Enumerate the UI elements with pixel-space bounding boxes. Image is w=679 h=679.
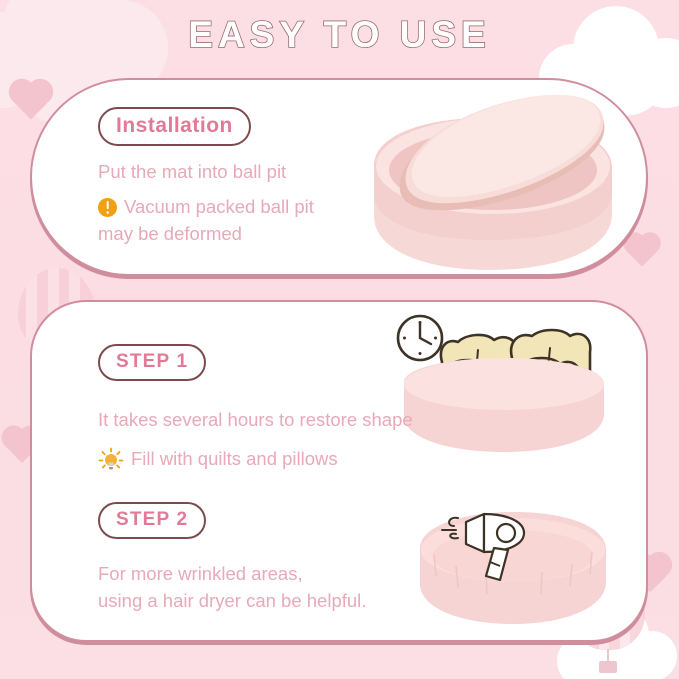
steps-card: STEP 1 It takes several hours to restore…: [30, 300, 648, 642]
installation-line-3: may be deformed: [98, 221, 314, 248]
step1-line-1: It takes several hours to restore shape: [98, 407, 413, 434]
step2-badge: STEP 2: [98, 502, 206, 539]
ball-pit-with-pillows-illustration: [390, 310, 620, 466]
step1-line-2: Fill with quilts and pillows: [131, 446, 338, 473]
step1-tip-row: Fill with quilts and pillows: [98, 446, 413, 473]
step1-badge: STEP 1: [98, 344, 206, 381]
ball-pit-with-mat-illustration: [360, 80, 628, 274]
installation-line-1: Put the mat into ball pit: [98, 159, 314, 186]
step1-text-block: STEP 1 It takes several hours to restore…: [98, 344, 413, 473]
installation-warning-row: Vacuum packed ball pit: [98, 194, 314, 221]
installation-badge: Installation: [98, 107, 251, 146]
empty-ball-pit-with-hair-dryer-illustration: [408, 492, 618, 632]
installation-text-block: Installation Put the mat into ball pit V…: [98, 107, 314, 247]
step2-text-block: STEP 2 For more wrinkled areas, using a …: [98, 502, 366, 615]
warning-icon: [98, 198, 117, 217]
step2-line-1: For more wrinkled areas,: [98, 561, 366, 588]
step2-line-2: using a hair dryer can be helpful.: [98, 588, 366, 615]
installation-line-2: Vacuum packed ball pit: [124, 194, 314, 221]
page-title: EASY TO USE: [0, 14, 679, 56]
lightbulb-icon: [98, 447, 124, 473]
installation-card: Installation Put the mat into ball pit V…: [30, 78, 648, 276]
